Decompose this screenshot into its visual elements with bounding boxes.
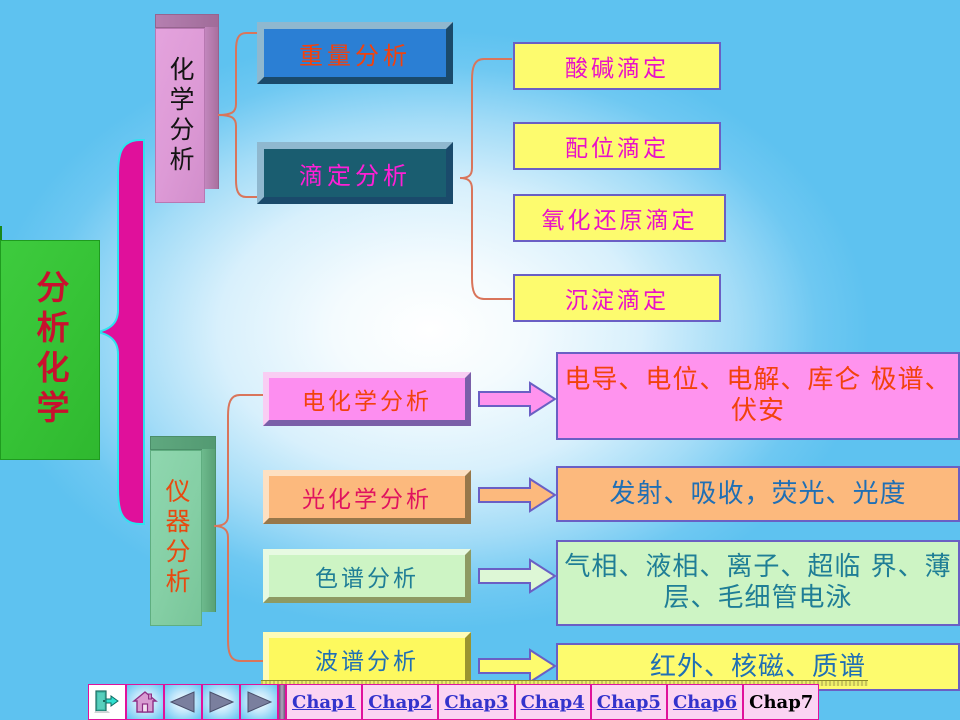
titration-box-precipitation[interactable]: 沉淀滴定	[513, 274, 721, 322]
next-slide-button[interactable]	[202, 684, 240, 720]
titration-box-label: 配位滴定	[565, 129, 669, 163]
titration-box-acid-base[interactable]: 酸碱滴定	[513, 42, 721, 90]
chapter-tab-label: Chap6	[673, 692, 737, 713]
root-node-analytical-chemistry[interactable]: 分析化学	[0, 226, 100, 460]
arrow-electrochemical	[478, 381, 556, 417]
instrumental-box-label: 光化学分析	[302, 480, 432, 514]
arrow-chromatographic	[478, 558, 556, 594]
prism-top-face	[0, 226, 2, 240]
instrumental-box-electrochemical[interactable]: 电化学分析	[263, 372, 471, 426]
method-box-titrimetric[interactable]: 滴定分析	[257, 142, 453, 204]
exit-door-icon	[94, 689, 120, 715]
exit-button[interactable]	[88, 684, 126, 720]
chapter-tab-7[interactable]: Chap7	[743, 684, 819, 720]
navigation-bar: Chap1 Chap2 Chap3 Chap4 Chap5 Chap6 Chap…	[88, 684, 819, 720]
prism-front-face: 分析化学	[0, 240, 100, 460]
branch-node-label: 化学分析	[156, 29, 204, 202]
instrumental-box-label: 色谱分析	[315, 559, 419, 593]
instrumental-box-label: 电化学分析	[302, 382, 432, 416]
instrumental-box-chromatographic[interactable]: 色谱分析	[263, 549, 471, 603]
triangle-right-icon	[207, 690, 235, 714]
root-node-label: 分析化学	[1, 241, 99, 459]
titration-box-label: 沉淀滴定	[565, 281, 669, 315]
detail-box-text: 电导、电位、电解、库仑 极谱、伏安	[558, 365, 958, 426]
triangle-right-icon	[245, 690, 273, 714]
nav-divider-handle[interactable]	[278, 684, 286, 720]
chapter-tab-label: Chap5	[597, 692, 661, 713]
detail-box-chromatographic[interactable]: 气相、液相、离子、超临 界、薄层、毛细管电泳	[556, 540, 960, 626]
arrow-photochemical	[478, 477, 556, 513]
instrumental-box-label: 波谱分析	[315, 642, 419, 676]
detail-box-electrochemical[interactable]: 电导、电位、电解、库仑 极谱、伏安	[556, 352, 960, 440]
chapter-tab-1[interactable]: Chap1	[286, 684, 362, 720]
chapter-tab-label: Chap1	[292, 692, 356, 713]
previous-slide-button[interactable]	[164, 684, 202, 720]
chapter-tab-label: Chap2	[368, 692, 432, 713]
titration-box-label: 氧化还原滴定	[542, 201, 698, 235]
chapter-tab-4[interactable]: Chap4	[515, 684, 591, 720]
detail-box-text: 红外、核磁、质谱	[650, 652, 866, 683]
chapter-tabs: Chap1 Chap2 Chap3 Chap4 Chap5 Chap6 Chap…	[286, 684, 819, 720]
chapter-tab-6[interactable]: Chap6	[667, 684, 743, 720]
arrow-spectroscopic	[478, 648, 556, 684]
chapter-tab-5[interactable]: Chap5	[591, 684, 667, 720]
chapter-tab-label: Chap7	[749, 692, 813, 713]
instrumental-analysis-brace	[212, 392, 268, 664]
detail-box-text: 发射、吸收，荧光、光度	[609, 479, 906, 510]
prism-front-face: 仪器分析	[150, 450, 202, 626]
instrumental-box-spectroscopic[interactable]: 波谱分析	[263, 632, 471, 686]
slide-canvas: 分析化学 化学分析 仪器分析 重量分析	[0, 0, 960, 720]
branch-node-chemical-analysis[interactable]: 化学分析	[155, 14, 219, 203]
instrumental-box-photochemical[interactable]: 光化学分析	[263, 470, 471, 524]
prism-top-face	[155, 14, 219, 28]
detail-box-photochemical[interactable]: 发射、吸收，荧光、光度	[556, 466, 960, 522]
titration-box-label: 酸碱滴定	[565, 49, 669, 83]
chapter-tab-label: Chap4	[521, 692, 585, 713]
detail-box-text: 气相、液相、离子、超临 界、薄层、毛细管电泳	[558, 552, 958, 613]
chapter-tab-2[interactable]: Chap2	[362, 684, 438, 720]
branch-node-instrumental-analysis[interactable]: 仪器分析	[150, 436, 216, 626]
main-brace	[96, 136, 148, 528]
forward-button[interactable]	[240, 684, 278, 720]
home-button[interactable]	[126, 684, 164, 720]
prism-front-face: 化学分析	[155, 28, 205, 203]
chapter-tab-3[interactable]: Chap3	[438, 684, 514, 720]
method-box-gravimetric[interactable]: 重量分析	[257, 22, 453, 84]
titration-box-complexometric[interactable]: 配位滴定	[513, 122, 721, 170]
titration-brace	[458, 56, 514, 302]
titration-box-redox[interactable]: 氧化还原滴定	[513, 194, 726, 242]
triangle-left-icon	[169, 690, 197, 714]
method-box-label: 重量分析	[299, 36, 411, 71]
branch-node-label: 仪器分析	[151, 451, 201, 625]
chapter-tab-label: Chap3	[444, 692, 508, 713]
prism-top-face	[150, 436, 216, 450]
home-icon	[132, 690, 158, 714]
method-box-label: 滴定分析	[299, 156, 411, 191]
